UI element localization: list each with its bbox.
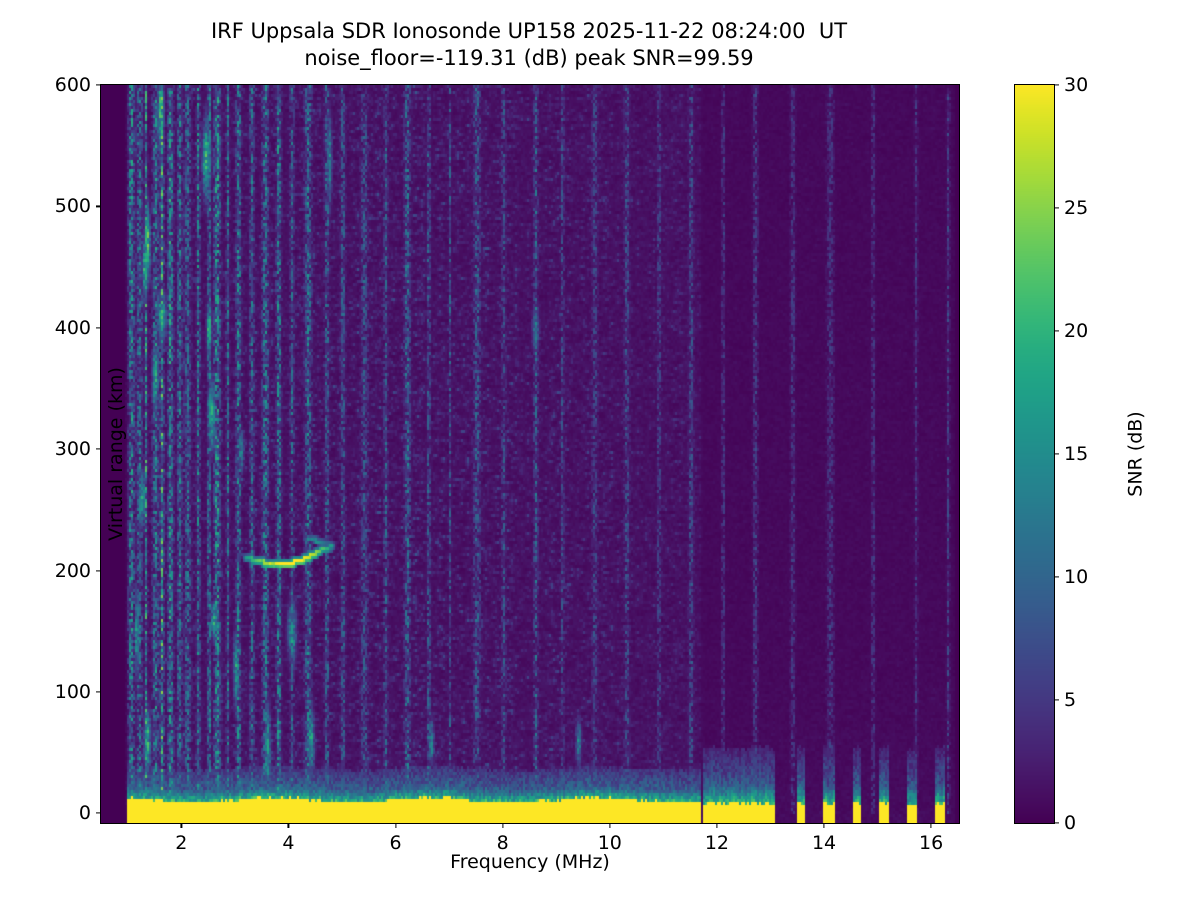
title-line-2: noise_floor=-119.31 (dB) peak SNR=99.59 (0, 45, 1058, 72)
colorbar-tick-mark (1054, 576, 1059, 577)
y-tick-label: 600 (55, 74, 101, 96)
y-tick-mark (96, 813, 101, 814)
y-tick-mark (96, 84, 101, 85)
colorbar-tick-label: 25 (1054, 197, 1088, 219)
colorbar-label: SNR (dB) (1125, 411, 1147, 496)
y-tick-mark (96, 570, 101, 571)
y-tick-label: 400 (55, 317, 101, 339)
colorbar-tick-label: 30 (1054, 74, 1088, 96)
y-axis-label: Virtual range (km) (105, 367, 127, 541)
x-tick-mark (288, 823, 289, 828)
x-tick-mark (716, 823, 717, 828)
colorbar-tick-mark (1054, 84, 1059, 85)
y-tick-mark (96, 449, 101, 450)
ionogram-axes: Virtual range (km) Frequency (MHz) 01002… (100, 84, 960, 824)
colorbar-tick-label: 10 (1054, 566, 1088, 588)
x-tick-mark (181, 823, 182, 828)
y-tick-label: 500 (55, 195, 101, 217)
y-tick-mark (96, 327, 101, 328)
colorbar: SNR (dB) 051015202530 (1014, 84, 1055, 824)
title-line-1: IRF Uppsala SDR Ionosonde UP158 2025-11-… (0, 18, 1058, 45)
colorbar-tick-mark (1054, 453, 1059, 454)
y-tick-mark (96, 206, 101, 207)
x-tick-mark (502, 823, 503, 828)
x-axis-label: Frequency (MHz) (101, 851, 959, 873)
colorbar-tick-label: 20 (1054, 320, 1088, 342)
colorbar-tick-mark (1054, 207, 1059, 208)
x-tick-mark (823, 823, 824, 828)
colorbar-tick-mark (1054, 699, 1059, 700)
ionogram-figure: IRF Uppsala SDR Ionosonde UP158 2025-11-… (0, 0, 1200, 900)
colorbar-gradient (1015, 85, 1054, 823)
x-tick-mark (609, 823, 610, 828)
colorbar-tick-label: 15 (1054, 443, 1088, 465)
x-tick-mark (931, 823, 932, 828)
y-tick-label: 300 (55, 438, 101, 460)
ionogram-heatmap (101, 85, 959, 823)
y-tick-label: 100 (55, 681, 101, 703)
y-tick-label: 200 (55, 560, 101, 582)
colorbar-tick-mark (1054, 822, 1059, 823)
colorbar-tick-mark (1054, 330, 1059, 331)
figure-title: IRF Uppsala SDR Ionosonde UP158 2025-11-… (0, 18, 1058, 72)
y-tick-mark (96, 691, 101, 692)
x-tick-mark (395, 823, 396, 828)
